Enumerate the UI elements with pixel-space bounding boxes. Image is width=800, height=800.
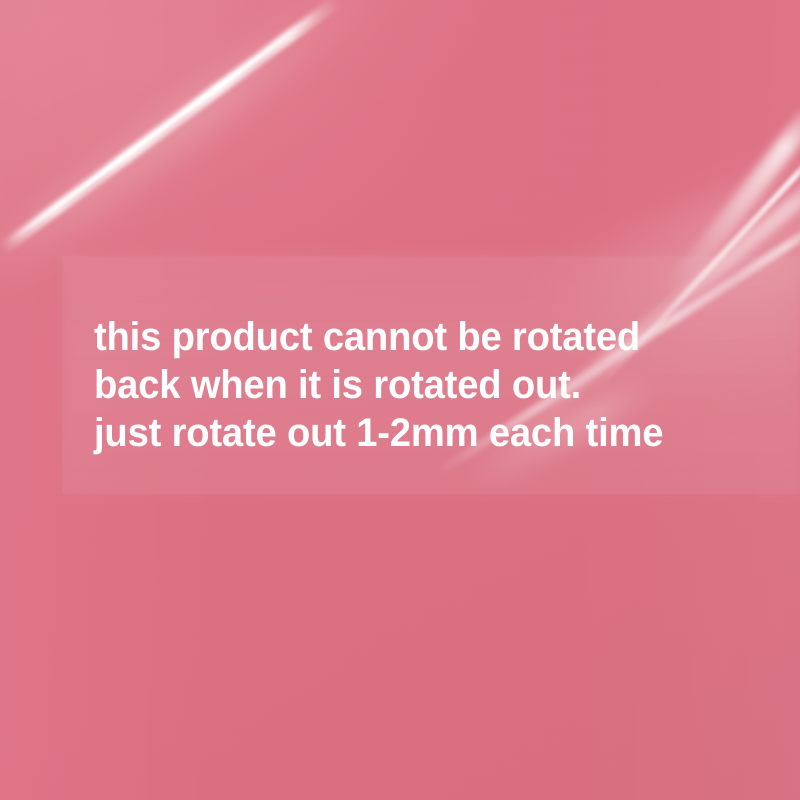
caption-line-2: back when it is rotated out. xyxy=(94,361,724,409)
caption-text-block: this product cannot be rotated back when… xyxy=(94,313,754,457)
product-notice-image: this product cannot be rotated back when… xyxy=(0,0,800,800)
caption-line-1: this product cannot be rotated xyxy=(94,313,724,361)
caption-line-3: just rotate out 1-2mm each time xyxy=(94,409,724,457)
